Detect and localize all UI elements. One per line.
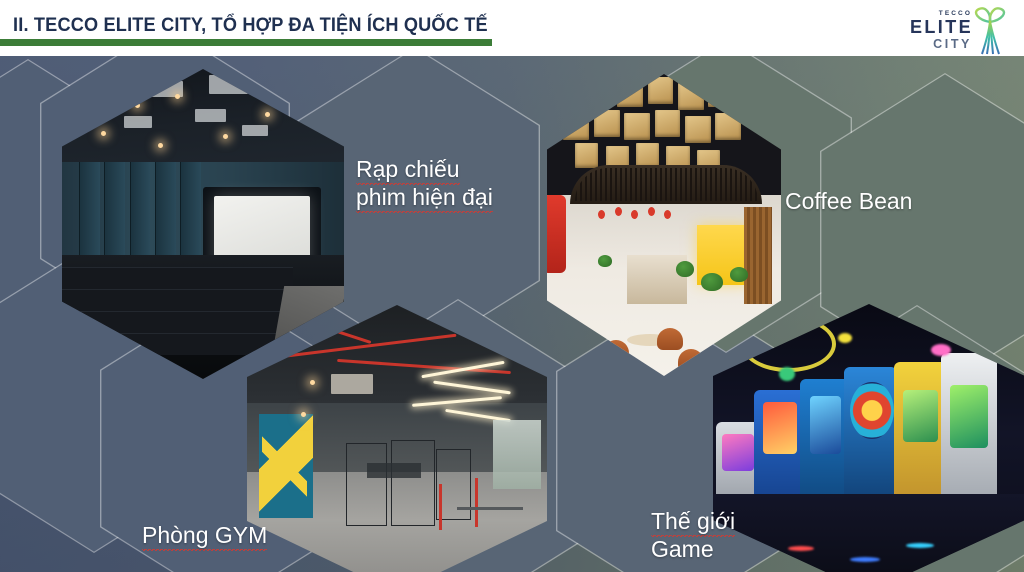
caption-game-line1: Thế giới (651, 508, 735, 537)
page-title: II. TECCO ELITE CITY, TỔ HỢP ĐA TIỆN ÍCH… (13, 14, 488, 37)
brand-logo: TECCO ELITE CITY (910, 2, 1010, 58)
logo-wordmark: TECCO ELITE CITY (910, 10, 972, 51)
title-underline-bar (0, 39, 492, 46)
logo-city-text: CITY (910, 37, 972, 51)
caption-gym: Phòng GYM (142, 521, 267, 549)
slide-header: II. TECCO ELITE CITY, TỔ HỢP ĐA TIỆN ÍCH… (0, 0, 1024, 56)
caption-coffee-line1: Coffee Bean (785, 188, 912, 214)
tree-mark-icon (970, 6, 1010, 56)
caption-coffee: Coffee Bean (785, 187, 912, 215)
caption-game-line2: Game (651, 536, 714, 562)
presentation-slide: II. TECCO ELITE CITY, TỔ HỢP ĐA TIỆN ÍCH… (0, 0, 1024, 572)
caption-gym-line1: Phòng GYM (142, 522, 267, 551)
caption-game: Thế giới Game (651, 507, 735, 563)
caption-cinema-line2: phim hiện đại (356, 184, 493, 213)
caption-cinema: Rạp chiếu phim hiện đại (356, 155, 493, 211)
caption-cinema-line1: Rạp chiếu (356, 156, 460, 185)
logo-elite-text: ELITE (910, 18, 972, 37)
slide-body: Rạp chiếu phim hiện đại Coffee Bean Phòn… (0, 55, 1024, 572)
